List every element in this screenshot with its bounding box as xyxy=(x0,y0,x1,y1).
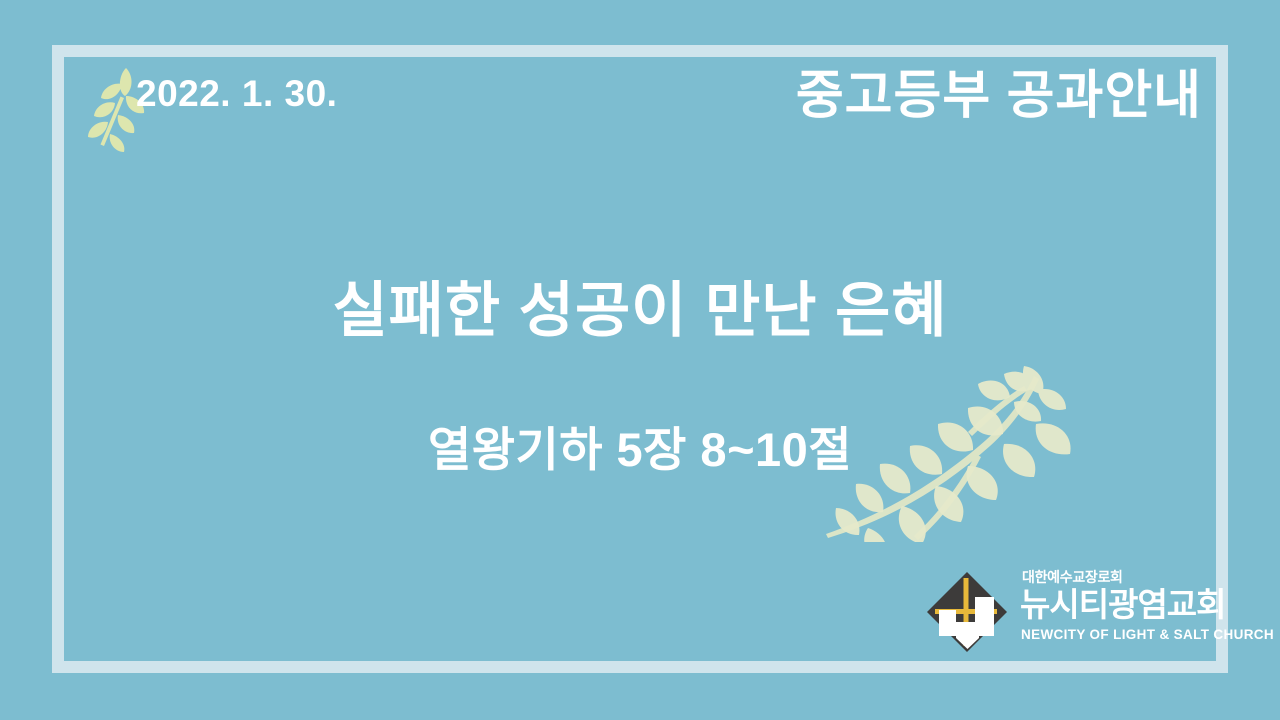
church-name-english: NEWCITY OF LIGHT & SALT CHURCH xyxy=(1021,628,1274,642)
presentation-slide: 2022. 1. 30. 중고등부 공과안내 xyxy=(0,0,1280,720)
church-logo-text: 대한예수교장로회 뉴시티광염교회 NEWCITY OF LIGHT & SALT… xyxy=(1020,566,1218,658)
scripture-reference: 열왕기하 5장 8~10절 xyxy=(0,423,1280,477)
date-block: 2022. 1. 30. xyxy=(78,62,498,142)
church-name-korean: 뉴시티광염교회 xyxy=(1020,588,1226,621)
denomination-label: 대한예수교장로회 xyxy=(1022,570,1123,584)
department-title: 중고등부 공과안내 xyxy=(796,67,1202,127)
lesson-title: 실패한 성공이 만난 은혜 xyxy=(0,276,1280,345)
church-emblem-icon xyxy=(925,570,1009,654)
church-logo: 대한예수교장로회 뉴시티광염교회 NEWCITY OF LIGHT & SALT… xyxy=(925,566,1217,658)
slide-date: 2022. 1. 30. xyxy=(136,75,337,112)
